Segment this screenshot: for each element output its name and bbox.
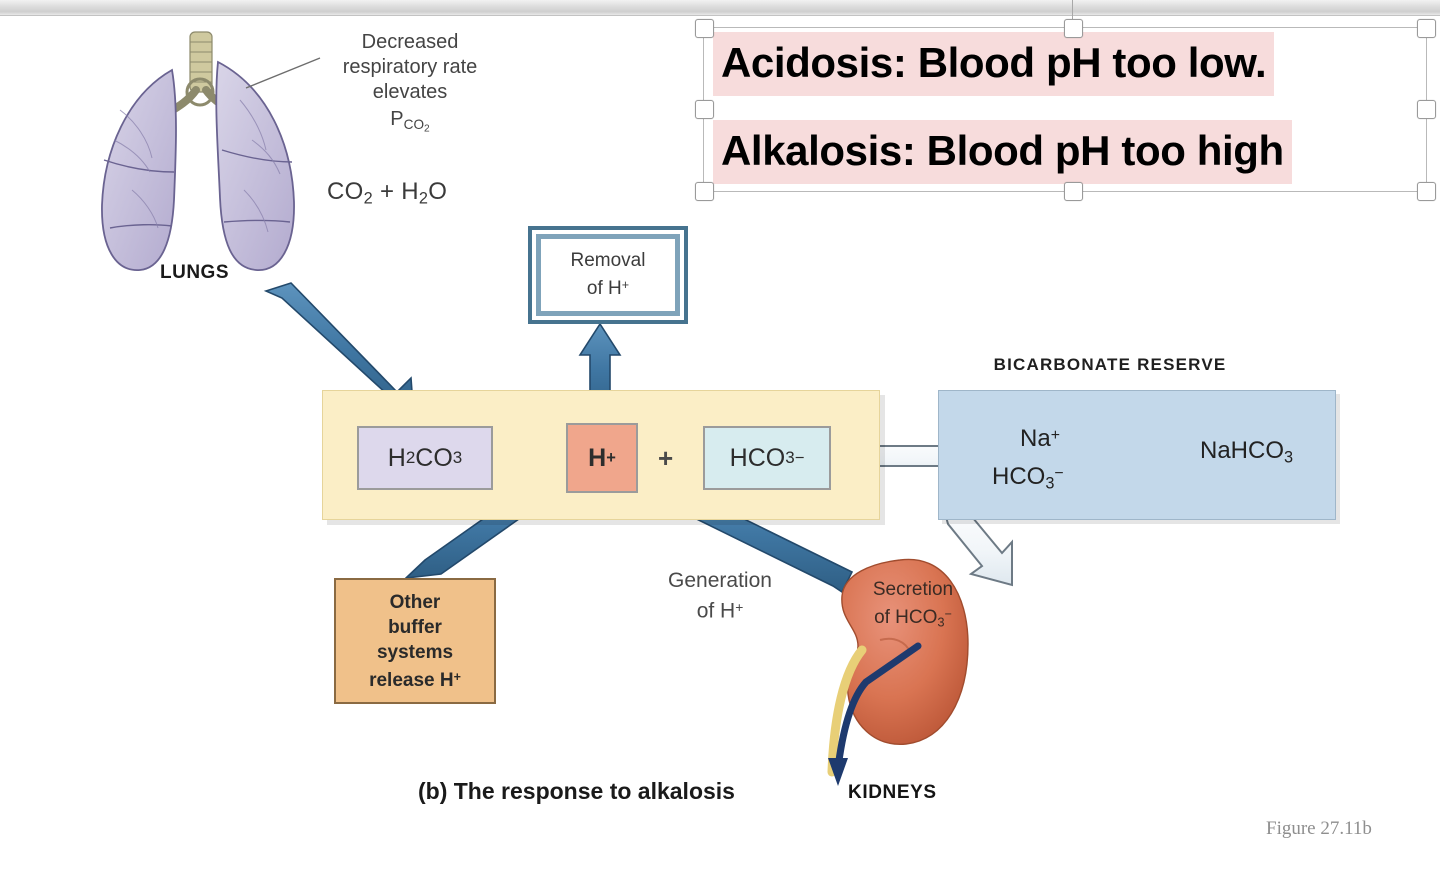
secretion-line1: Secretion — [873, 579, 953, 600]
lungs-note: Decreased respiratory rate elevates PCO2 — [320, 30, 500, 141]
figure-caption: (b) The response to alkalosis — [418, 778, 735, 805]
hco3-hco: HCO — [730, 444, 786, 473]
h2-sub: 2 — [419, 190, 428, 208]
h-text: H — [401, 178, 419, 205]
h2co3-sub2: 3 — [453, 448, 462, 468]
generation-of-h-label: Generation of H+ — [640, 568, 800, 624]
figure-number: Figure 27.11b — [1266, 818, 1372, 840]
na-plus-label: Na+ — [1020, 425, 1060, 453]
handle-top-left[interactable] — [695, 19, 714, 38]
removal-of-h-text: Removal of H+ — [571, 249, 646, 301]
kidneys-label: KIDNEYS — [848, 782, 937, 804]
lungs-note-text: Decreased respiratory rate elevates — [343, 31, 478, 103]
h2co3-sub1: 2 — [406, 448, 415, 468]
hco3-sub: 3 — [785, 448, 794, 468]
other-buffer-systems-box: Other buffer systems release H+ — [334, 578, 496, 704]
plus-text: + — [380, 178, 394, 205]
slide-canvas: LUNGS Decreased respiratory rate elevate… — [0, 0, 1440, 869]
nahco3-sub: 3 — [1284, 449, 1293, 467]
handle-bottom-center[interactable] — [1064, 182, 1083, 201]
o-text: O — [428, 178, 447, 205]
removal-line2: of H — [587, 278, 622, 299]
generation-line2: of H — [697, 599, 736, 622]
handle-top-right[interactable] — [1417, 19, 1436, 38]
handle-bottom-right[interactable] — [1417, 182, 1436, 201]
handle-middle-left[interactable] — [695, 100, 714, 119]
generation-sup: + — [735, 599, 743, 615]
handle-top-center[interactable] — [1064, 19, 1083, 38]
co-text: CO — [327, 178, 364, 205]
buffer-line1: Other — [390, 592, 441, 613]
alkalosis-line: Alkalosis: Blood pH too high — [713, 120, 1292, 184]
h2co3-h: H — [388, 444, 406, 473]
lungs-illustration — [102, 32, 320, 270]
nahco3-label: NaHCO3 — [1200, 437, 1293, 468]
buffer-line4: release H — [369, 669, 454, 690]
reserve-hco3-text: HCO — [992, 463, 1045, 490]
buffer-line2: buffer — [388, 617, 442, 638]
hco3-sup: − — [795, 449, 805, 468]
p-symbol: P — [390, 108, 403, 130]
secretion-of-hco3-label: Secretion of HCO3− — [848, 578, 978, 634]
co2-water-equation: CO2 + H2O — [327, 178, 447, 209]
secretion-sub: 3 — [937, 614, 944, 629]
reserve-hco3-label: HCO3− — [992, 463, 1064, 494]
reserve-hco3-sup: − — [1054, 465, 1063, 482]
h2co3-co: CO — [415, 444, 453, 473]
nahco3-text: NaHCO — [1200, 437, 1284, 464]
removal-sup: + — [622, 278, 629, 292]
handle-middle-right[interactable] — [1417, 100, 1436, 119]
reaction-plus-sign: + — [658, 443, 673, 474]
generation-line1: Generation — [668, 569, 772, 592]
hco3-box: HCO3− — [703, 426, 831, 490]
acidosis-line: Acidosis: Blood pH too low. — [713, 32, 1274, 96]
buffer-line3: systems — [377, 642, 453, 663]
co2-subscript: CO2 — [404, 117, 430, 132]
h-plus-h: H — [588, 444, 606, 473]
textbox-content[interactable]: Acidosis: Blood pH too low. Alkalosis: B… — [713, 32, 1419, 184]
removal-of-h-box: Removal of H+ — [528, 226, 688, 324]
handle-bottom-left[interactable] — [695, 182, 714, 201]
secretion-sup: − — [945, 607, 952, 621]
na-sup: + — [1051, 427, 1060, 444]
removal-line1: Removal — [571, 250, 646, 271]
co2-sub: 2 — [364, 190, 373, 208]
na-text: Na — [1020, 425, 1051, 452]
buffer-sup: + — [454, 670, 461, 684]
h-plus-box: H+ — [566, 423, 638, 493]
secretion-line2: of HCO — [874, 607, 937, 628]
h2co3-box: H2CO3 — [357, 426, 493, 490]
h-plus-sup: + — [606, 449, 616, 468]
buffer-text: Other buffer systems release H+ — [369, 590, 461, 693]
lungs-label: LUNGS — [160, 262, 229, 284]
bicarbonate-reserve-title: BICARBONATE RESERVE — [940, 355, 1280, 375]
pco2-symbol: PCO2 — [390, 108, 429, 130]
